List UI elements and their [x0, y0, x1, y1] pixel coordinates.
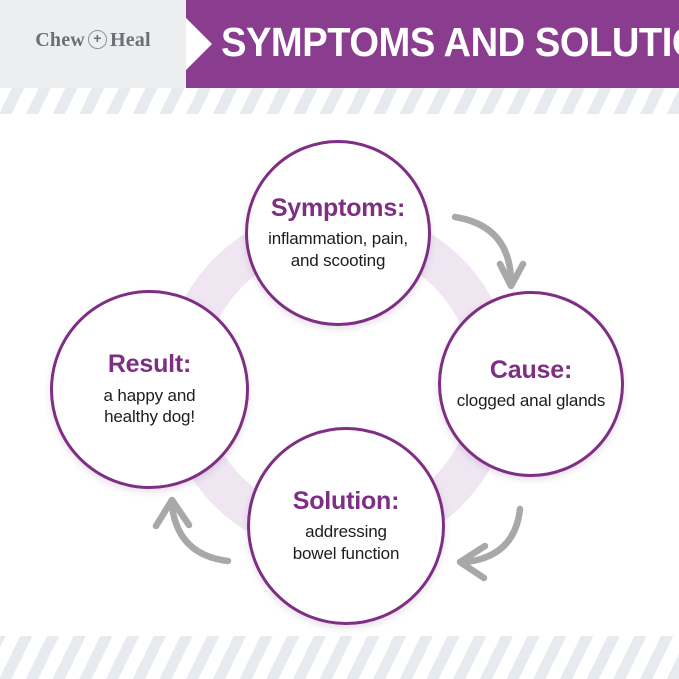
- page-title: SYMPTOMS AND SOLUTIONS: [221, 0, 679, 88]
- node-solution-body: addressing bowel function: [281, 521, 412, 564]
- diagonal-stripe-band-bottom: [0, 636, 679, 679]
- node-symptoms: Symptoms: inflammation, pain, and scooti…: [245, 140, 431, 326]
- logo-panel: Chew+Heal: [0, 0, 196, 88]
- logo-word-right: Heal: [110, 29, 151, 51]
- brand-logo: Chew+Heal: [0, 28, 186, 52]
- plus-circle-icon: +: [88, 30, 107, 49]
- node-cause-title: Cause:: [490, 357, 572, 383]
- node-result-body-line-2: healthy dog!: [104, 406, 196, 427]
- node-solution: Solution: addressing bowel function: [247, 427, 445, 625]
- cycle-diagram: Symptoms: inflammation, pain, and scooti…: [0, 114, 679, 636]
- node-symptoms-body-line-1: inflammation, pain,: [268, 228, 408, 249]
- node-solution-body-line-1: addressing: [293, 521, 400, 542]
- node-result-title: Result:: [108, 351, 191, 377]
- node-symptoms-body: inflammation, pain, and scooting: [256, 228, 420, 271]
- node-result: Result: a happy and healthy dog!: [50, 290, 249, 489]
- page-header: Chew+Heal SYMPTOMS AND SOLUTIONS: [0, 0, 679, 88]
- node-result-body-line-1: a happy and: [104, 385, 196, 406]
- node-solution-body-line-2: bowel function: [293, 543, 400, 564]
- node-cause-body-line-1: clogged anal glands: [457, 390, 605, 411]
- chevron-notch-icon: [186, 0, 214, 88]
- node-cause: Cause: clogged anal glands: [438, 291, 624, 477]
- infographic-page: Chew+Heal SYMPTOMS AND SOLUTIONS: [0, 0, 679, 679]
- logo-word-left: Chew: [35, 29, 85, 51]
- node-symptoms-title: Symptoms:: [271, 195, 405, 221]
- node-solution-title: Solution:: [293, 488, 400, 514]
- node-symptoms-body-line-2: and scooting: [268, 250, 408, 271]
- node-cause-body: clogged anal glands: [445, 390, 617, 411]
- node-result-body: a happy and healthy dog!: [92, 385, 208, 428]
- diagonal-stripe-band-top: [0, 88, 679, 114]
- title-banner: SYMPTOMS AND SOLUTIONS: [186, 0, 679, 88]
